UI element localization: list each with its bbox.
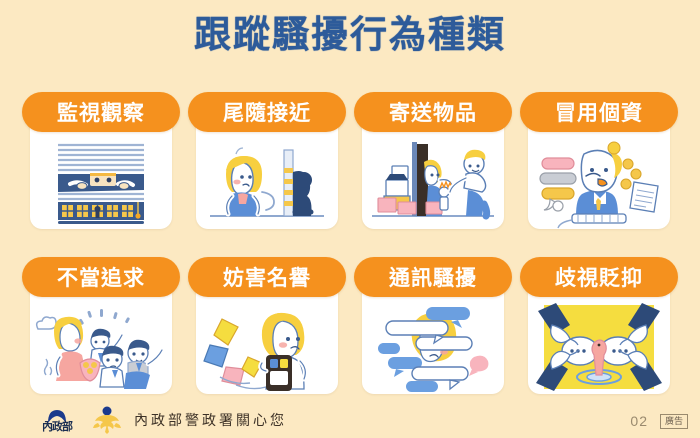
- unwanted-pursuit-with-flowers-icon: [30, 301, 172, 394]
- footer: 內政部 內政部警政署關心您: [0, 402, 700, 438]
- card-defamation[interactable]: 妨害名譽: [188, 257, 346, 417]
- identity-impersonation-at-computer-icon: [528, 136, 670, 229]
- card-sending-items[interactable]: 寄送物品: [354, 92, 512, 252]
- card-identity-misuse[interactable]: 冒用個資: [520, 92, 678, 252]
- poster-root: 跟蹤騷擾行為種類: [0, 0, 700, 438]
- card-unwanted-pursuit[interactable]: 不當追求: [22, 257, 180, 417]
- page-title-bar: 跟蹤騷擾行為種類: [0, 14, 700, 57]
- footer-message: 內政部警政署關心您: [134, 410, 287, 430]
- card-label[interactable]: 寄送物品: [354, 92, 512, 132]
- ad-badge: 廣告: [660, 414, 688, 429]
- woman-followed-by-hidden-man-icon: [196, 136, 338, 229]
- card-label[interactable]: 歧視貶抑: [520, 257, 678, 297]
- page-title: 跟蹤騷擾行為種類: [194, 14, 506, 57]
- card-discrimination[interactable]: 歧視貶抑: [520, 257, 678, 417]
- card-label[interactable]: 通訊騷擾: [354, 257, 512, 297]
- footer-right: 02 廣告: [630, 413, 688, 429]
- card-surveillance[interactable]: 監視觀察: [22, 92, 180, 252]
- police-emblem-icon: [92, 406, 122, 434]
- ministry-of-interior-logo: 內政部: [34, 406, 80, 434]
- unwanted-packages-at-door-icon: [362, 136, 504, 229]
- ministry-logo-text: 內政部: [34, 418, 80, 434]
- message-bubble-harassment-icon: [362, 301, 504, 394]
- pointing-fingers-discrimination-icon: [528, 301, 670, 394]
- defamation-flyers-icon: [196, 301, 338, 394]
- card-message-harassment[interactable]: 通訊騷擾: [354, 257, 512, 417]
- card-label[interactable]: 不當追求: [22, 257, 180, 297]
- card-label[interactable]: 妨害名譽: [188, 257, 346, 297]
- page-number: 02: [630, 413, 648, 429]
- card-following[interactable]: 尾隨接近: [188, 92, 346, 252]
- card-label[interactable]: 冒用個資: [520, 92, 678, 132]
- person-peeking-through-blinds-icon: [30, 136, 172, 229]
- card-grid: 監視觀察: [22, 92, 678, 417]
- card-label[interactable]: 監視觀察: [22, 92, 180, 132]
- card-label[interactable]: 尾隨接近: [188, 92, 346, 132]
